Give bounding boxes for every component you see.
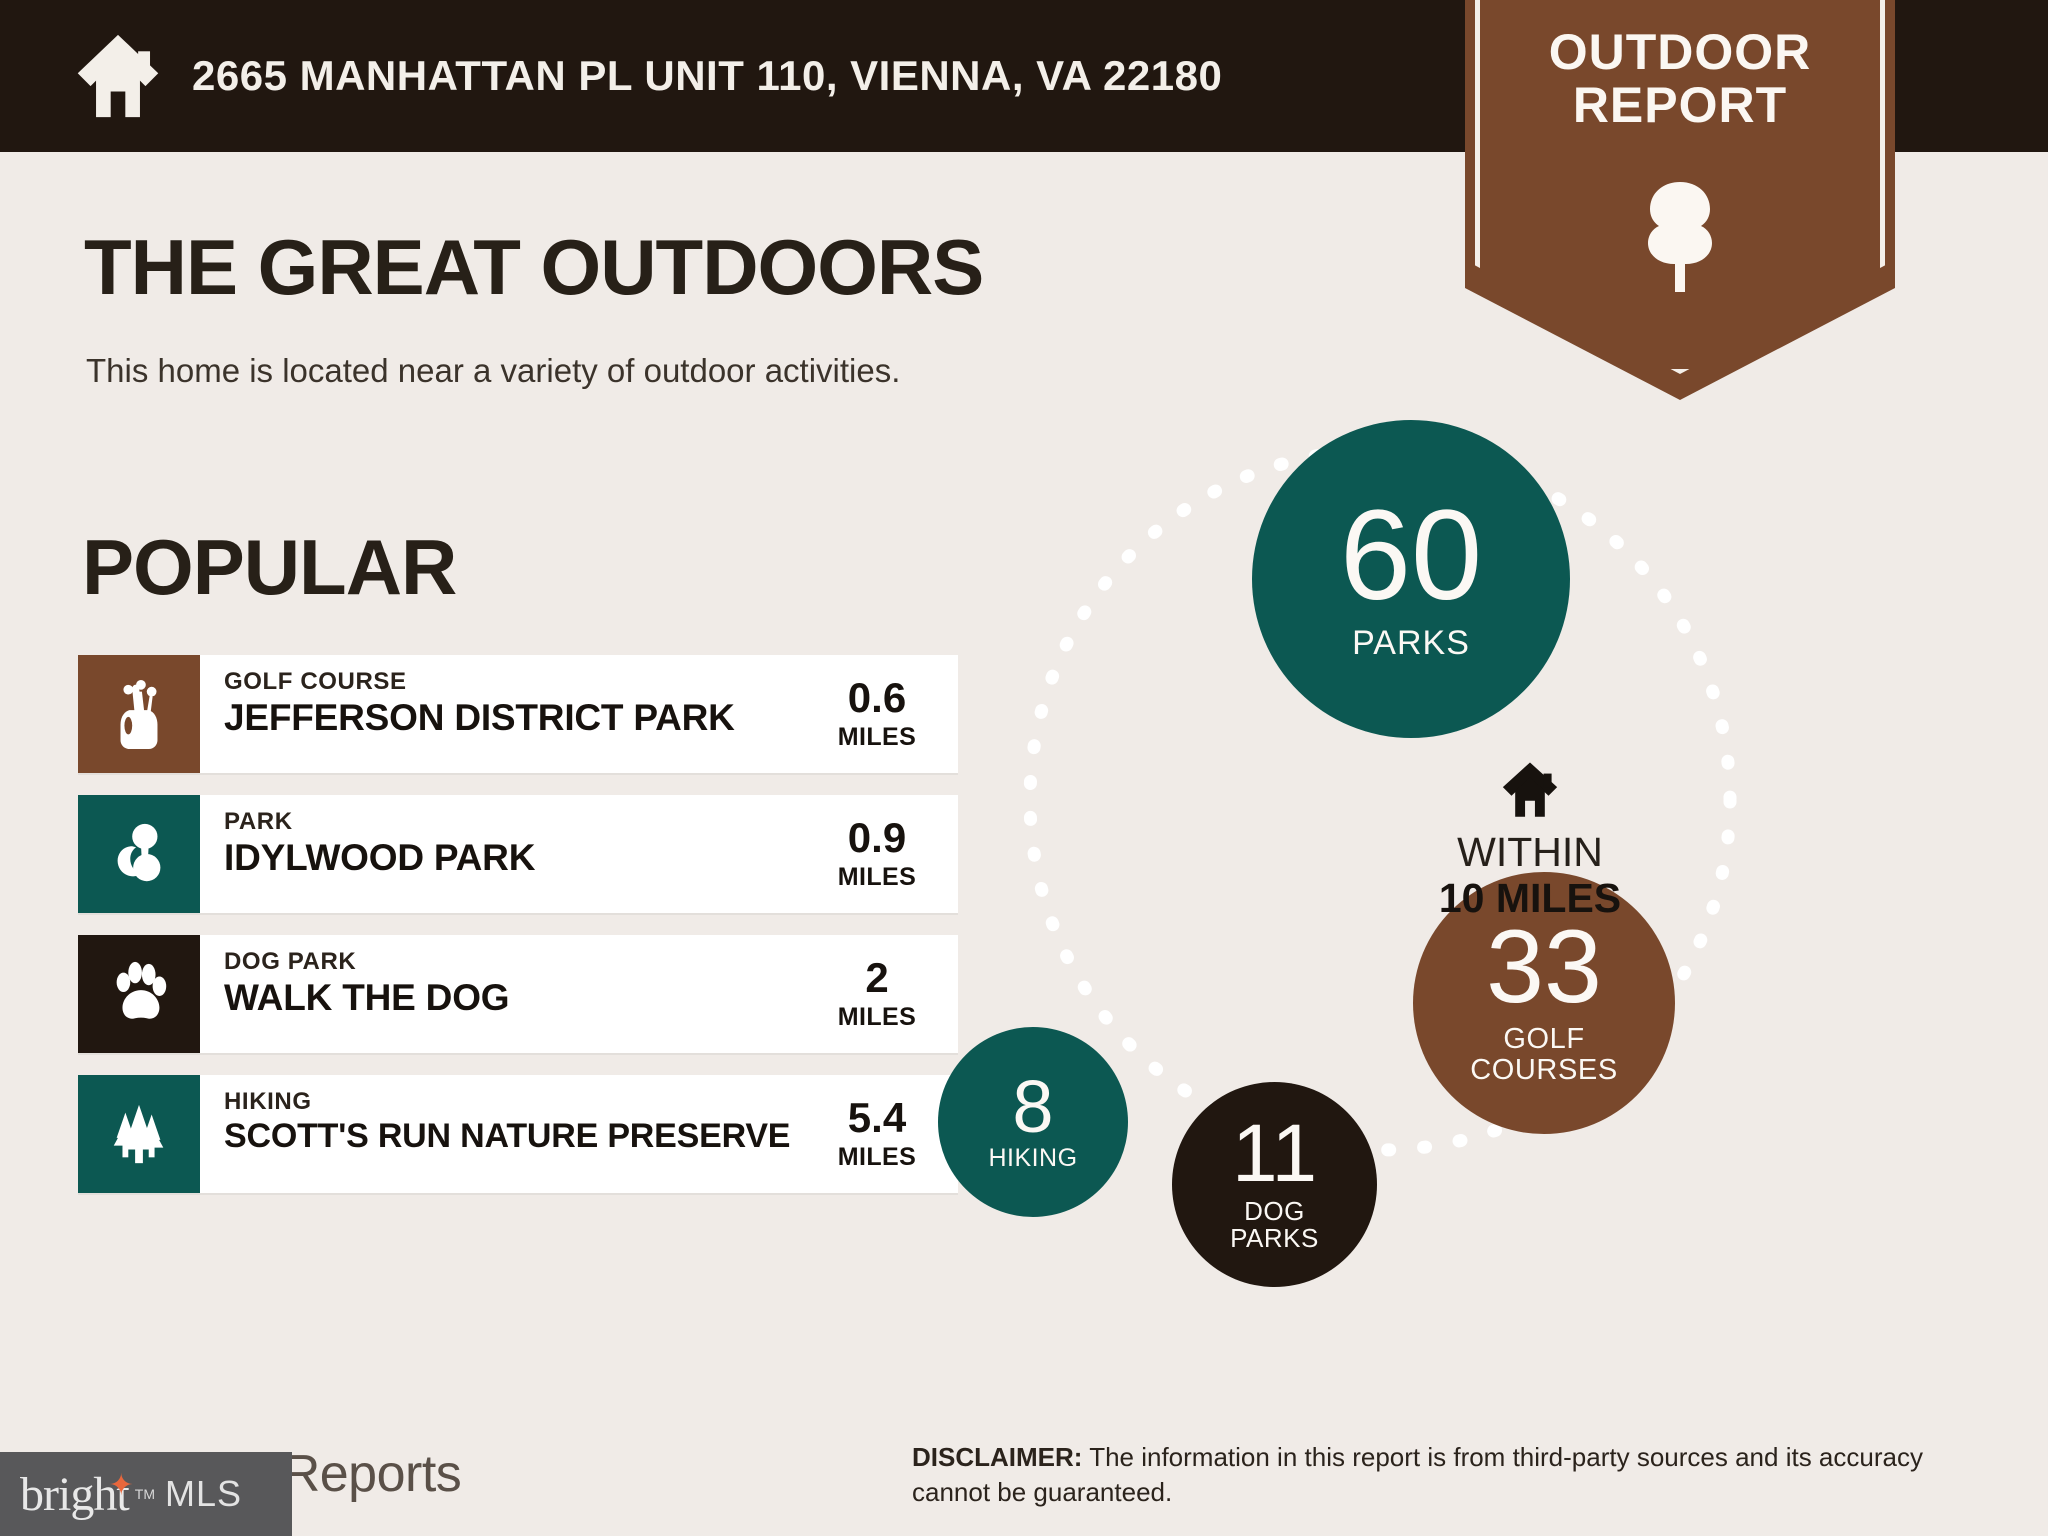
center-line-1: WITHIN <box>1380 830 1680 876</box>
list-item[interactable]: HIKING SCOTT'S RUN NATURE PRESERVE 5.4 M… <box>78 1075 958 1193</box>
bubble-label: PARKS <box>1352 625 1470 661</box>
pine-trees-icon <box>78 1075 200 1193</box>
list-item-text: DOG PARK WALK THE DOG <box>200 935 818 1053</box>
bright-mls-logo: bright ✦ TM MLS <box>0 1452 292 1536</box>
bubble-label: GOLF COURSES <box>1470 1024 1618 1085</box>
section-heading-popular: POPULAR <box>82 522 456 613</box>
list-item-name: IDYLWOOD PARK <box>224 837 812 878</box>
stat-bubble-parks[interactable]: 60 PARKS <box>1252 420 1570 738</box>
trees-park-icon <box>78 795 200 913</box>
outdoor-report-badge: OUTDOOR REPORT <box>1465 0 1895 400</box>
bubble-label: HIKING <box>988 1145 1077 1172</box>
disclaimer-label: DISCLAIMER: <box>912 1442 1082 1472</box>
bubble-value: 60 <box>1340 497 1482 615</box>
golf-bag-icon <box>78 655 200 773</box>
house-icon <box>72 33 164 119</box>
bubble-label-line-1: GOLF <box>1470 1024 1618 1055</box>
bubble-value: 8 <box>1012 1073 1053 1141</box>
list-item-text: GOLF COURSE JEFFERSON DISTRICT PARK <box>200 655 818 773</box>
bubble-value: 33 <box>1486 920 1602 1016</box>
bubble-value: 11 <box>1232 1116 1317 1191</box>
house-icon <box>1498 760 1562 818</box>
list-item-name: SCOTT'S RUN NATURE PRESERVE <box>224 1117 812 1155</box>
list-item[interactable]: DOG PARK WALK THE DOG 2 MILES <box>78 935 958 1053</box>
list-item-category: GOLF COURSE <box>224 669 812 694</box>
page-title: THE GREAT OUTDOORS <box>84 222 983 313</box>
list-item-text: HIKING SCOTT'S RUN NATURE PRESERVE <box>200 1075 818 1193</box>
stat-bubble-dog-parks[interactable]: 11 DOG PARKS <box>1172 1082 1377 1287</box>
within-10-miles-diagram: 60 PARKS 33 GOLF COURSES 11 DOG PARKS 8 … <box>1080 430 2020 1310</box>
center-line-2: 10 MILES <box>1380 876 1680 922</box>
list-item-category: DOG PARK <box>224 949 812 974</box>
list-item-text: PARK IDYLWOOD PARK <box>200 795 818 913</box>
property-address: 2665 MANHATTAN PL UNIT 110, VIENNA, VA 2… <box>192 52 1222 100</box>
list-item[interactable]: PARK IDYLWOOD PARK 0.9 MILES <box>78 795 958 913</box>
bubble-label-line-1: DOG <box>1230 1198 1319 1226</box>
badge-title: OUTDOOR REPORT <box>1465 26 1895 132</box>
page-subtitle: This home is located near a variety of o… <box>86 352 900 390</box>
bubble-label-line-2: COURSES <box>1470 1055 1618 1086</box>
mls-wordmark: MLS <box>165 1473 242 1515</box>
star-icon: ✦ <box>109 1468 134 1503</box>
disclaimer: DISCLAIMER: The information in this repo… <box>912 1440 1972 1510</box>
badge-line-2: REPORT <box>1465 79 1895 132</box>
list-item-name: JEFFERSON DISTRICT PARK <box>224 697 812 738</box>
badge-line-1: OUTDOOR <box>1465 26 1895 79</box>
list-item-name: WALK THE DOG <box>224 977 812 1018</box>
list-item-category: HIKING <box>224 1089 812 1114</box>
stat-bubble-hiking[interactable]: 8 HIKING <box>938 1027 1128 1217</box>
tree-icon <box>1634 176 1726 294</box>
paw-print-icon <box>78 935 200 1053</box>
popular-list: GOLF COURSE JEFFERSON DISTRICT PARK 0.6 … <box>78 655 958 1215</box>
list-item-category: PARK <box>224 809 812 834</box>
list-item[interactable]: GOLF COURSE JEFFERSON DISTRICT PARK 0.6 … <box>78 655 958 773</box>
diagram-center-label: WITHIN 10 MILES <box>1380 760 1680 922</box>
bubble-label: DOG PARKS <box>1230 1198 1319 1253</box>
trademark-mark: TM <box>135 1486 155 1502</box>
bubble-label-line-2: PARKS <box>1230 1225 1319 1253</box>
